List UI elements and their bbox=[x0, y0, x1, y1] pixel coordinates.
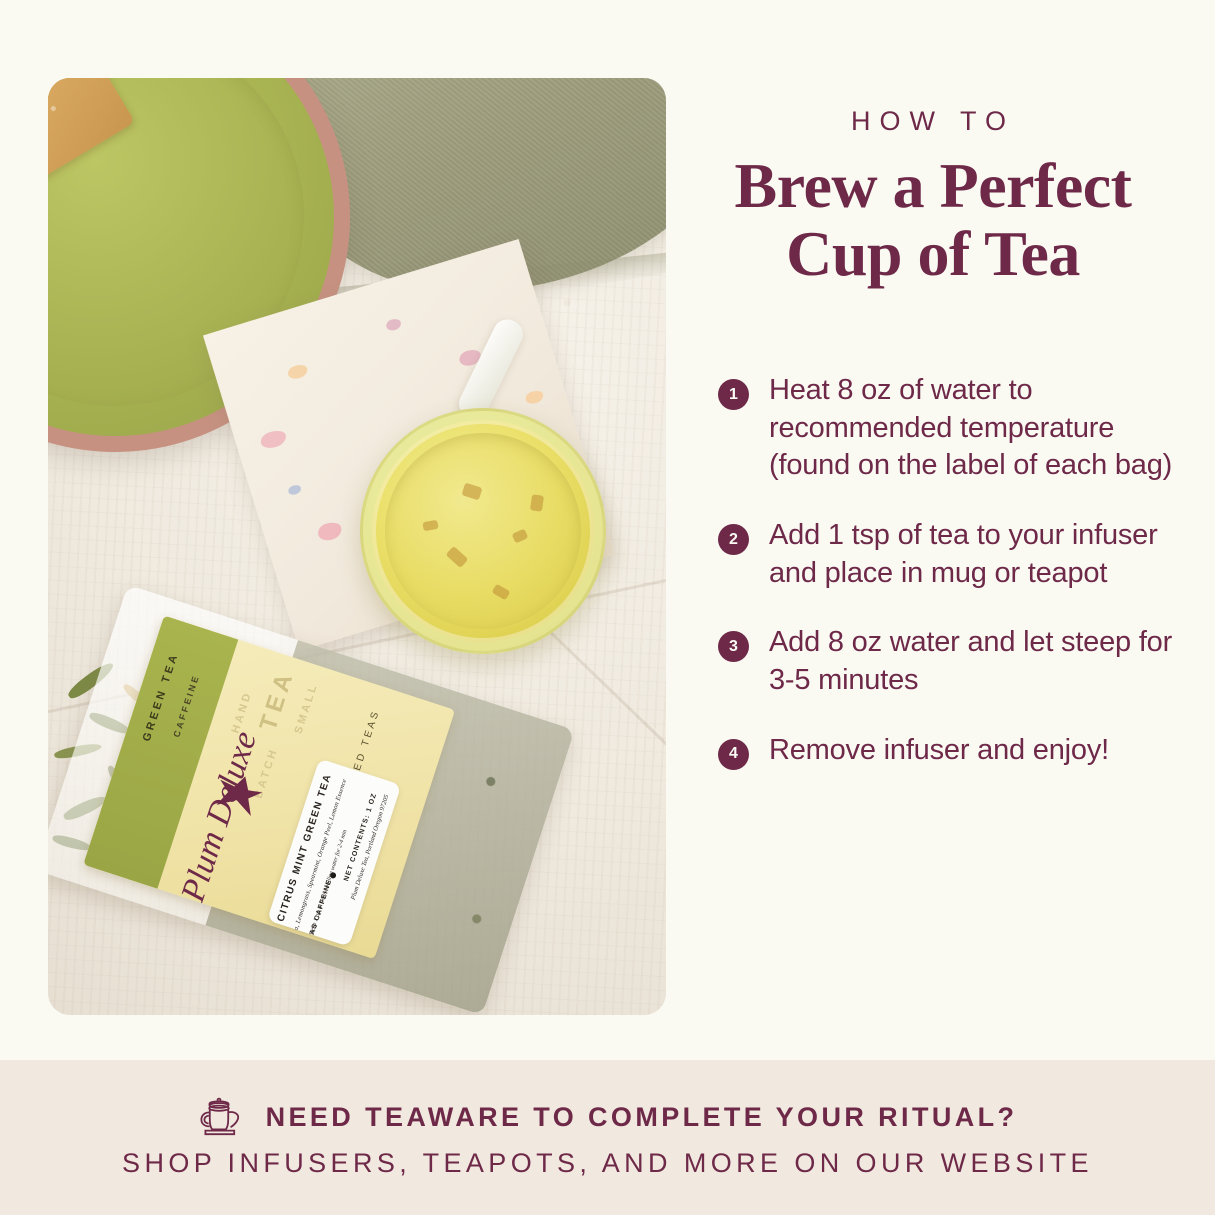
poster-canvas: GREEN TEA CAFFEINE HAND TEA SMALL BATCH … bbox=[0, 0, 1215, 1215]
step-item-1: 1 Heat 8 oz of water to recommended temp… bbox=[718, 372, 1198, 485]
floating-tea-leaf bbox=[461, 483, 482, 501]
teapot-icon bbox=[198, 1096, 244, 1138]
terrazzo-fleck bbox=[286, 363, 309, 381]
footer-subline: SHOP INFUSERS, TEAPOTS, AND MORE ON OUR … bbox=[122, 1148, 1093, 1179]
title-line-1: Brew a Perfect bbox=[700, 152, 1166, 220]
step-badge-1: 1 bbox=[718, 379, 749, 410]
footer-banner-row-1: NEED TEAWARE TO COMPLETE YOUR RITUAL? bbox=[198, 1096, 1018, 1138]
terrazzo-fleck bbox=[287, 484, 302, 496]
title-line-2: Cup of Tea bbox=[700, 220, 1166, 288]
step-badge-4: 4 bbox=[718, 739, 749, 770]
glass-tea-cup bbox=[360, 408, 606, 654]
terrazzo-fleck bbox=[385, 317, 403, 332]
page-title: Brew a Perfect Cup of Tea bbox=[700, 152, 1166, 288]
hero-photo: GREEN TEA CAFFEINE HAND TEA SMALL BATCH … bbox=[48, 78, 666, 1015]
floating-tea-leaf bbox=[492, 584, 511, 601]
footer-banner: NEED TEAWARE TO COMPLETE YOUR RITUAL? SH… bbox=[0, 1060, 1215, 1215]
kicker-text: HOW TO bbox=[700, 106, 1166, 137]
step-text-1: Heat 8 oz of water to recommended temper… bbox=[769, 372, 1198, 485]
step-item-4: 4 Remove infuser and enjoy! bbox=[718, 732, 1198, 770]
terrazzo-fleck bbox=[524, 389, 545, 406]
steps-list: 1 Heat 8 oz of water to recommended temp… bbox=[718, 372, 1198, 802]
floating-tea-leaf bbox=[422, 520, 438, 531]
terrazzo-fleck bbox=[316, 520, 344, 543]
step-badge-2: 2 bbox=[718, 524, 749, 555]
cracker bbox=[48, 78, 135, 208]
step-text-2: Add 1 tsp of tea to your infuser and pla… bbox=[769, 517, 1198, 592]
floating-tea-leaf bbox=[530, 494, 544, 512]
terrazzo-fleck bbox=[259, 428, 289, 451]
instructions-column: HOW TO Brew a Perfect Cup of Tea 1 Heat … bbox=[700, 0, 1215, 1060]
package-ingredient-label: CITRUS MINT GREEN TEA Chinese Green Tea,… bbox=[267, 758, 401, 946]
step-badge-3: 3 bbox=[718, 631, 749, 662]
label-word-small: SMALL bbox=[292, 681, 320, 735]
photo-scene: GREEN TEA CAFFEINE HAND TEA SMALL BATCH … bbox=[48, 78, 666, 1015]
step-item-3: 3 Add 8 oz water and let steep for 3-5 m… bbox=[718, 624, 1198, 699]
floating-tea-leaf bbox=[446, 546, 469, 568]
footer-headline: NEED TEAWARE TO COMPLETE YOUR RITUAL? bbox=[266, 1102, 1018, 1133]
step-text-4: Remove infuser and enjoy! bbox=[769, 732, 1109, 770]
step-text-3: Add 8 oz water and let steep for 3-5 min… bbox=[769, 624, 1198, 699]
floating-tea-leaf bbox=[512, 529, 529, 544]
step-item-2: 2 Add 1 tsp of tea to your infuser and p… bbox=[718, 517, 1198, 592]
